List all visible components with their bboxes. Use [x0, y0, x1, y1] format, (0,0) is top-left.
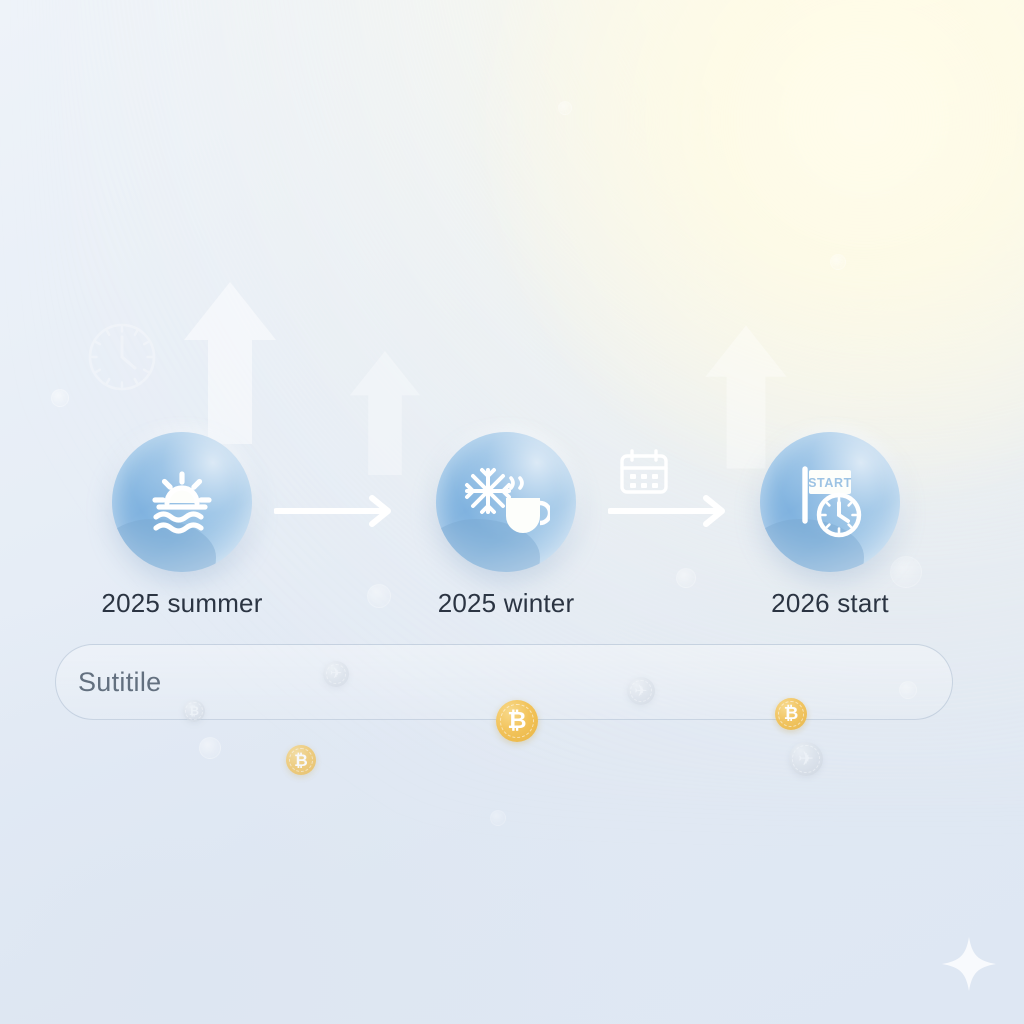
coin-glyph: ✈: [634, 683, 647, 699]
bokeh-dot: [51, 389, 69, 407]
timeline-node-2026-start[interactable]: START 2026 start: [730, 432, 930, 619]
coin-glyph: ✈: [330, 667, 342, 682]
svg-text:START: START: [808, 476, 852, 490]
sunrise-over-water-icon: [112, 432, 252, 572]
coin-gold: ₿: [496, 700, 538, 742]
coin-glyph: ₿: [294, 752, 308, 769]
coin-gold: ₿: [775, 698, 807, 730]
bokeh-dot: [830, 254, 846, 270]
node-orb-wrapper: START: [760, 432, 900, 572]
clock-watermark-icon: [87, 322, 157, 397]
node-orb-wrapper: [436, 432, 576, 572]
timeline-node-label: 2025 summer: [82, 588, 282, 619]
subtitle-text: Sutitile: [78, 667, 161, 698]
bokeh-dot: [558, 101, 572, 115]
coin-silver: ✈: [627, 677, 655, 705]
bokeh-dot: [199, 737, 221, 759]
coin-silver: ✈: [323, 661, 349, 687]
timeline-node-label: 2025 winter: [406, 588, 606, 619]
coin-silver: ✈: [789, 742, 823, 776]
coin-glyph: ₿: [784, 705, 799, 723]
light-source-glow: [484, 0, 1024, 500]
timeline-node-2025-winter[interactable]: 2025 winter: [406, 432, 606, 619]
timeline-connector-2: [608, 494, 736, 528]
node-orb-wrapper: [112, 432, 252, 572]
start-flag-clock-icon: START: [760, 432, 900, 572]
coin-glyph: ₿: [507, 709, 526, 733]
coin-silver: ₿: [183, 700, 205, 722]
coin-gold: ₿: [286, 745, 316, 775]
snowflake-hot-drink-icon: [436, 432, 576, 572]
bokeh-dot: [490, 810, 506, 826]
sparkle-icon: [940, 935, 998, 998]
timeline-node-label: 2026 start: [730, 588, 930, 619]
coin-glyph: ₿: [189, 705, 199, 717]
timeline-node-2025-summer[interactable]: 2025 summer: [82, 432, 282, 619]
calendar-icon: [618, 448, 670, 501]
timeline-connector-1: [274, 494, 402, 528]
infographic-canvas: 2025 summer: [0, 0, 1024, 1024]
timeline: 2025 summer: [0, 432, 1024, 632]
coin-glyph: ✈: [798, 750, 814, 769]
